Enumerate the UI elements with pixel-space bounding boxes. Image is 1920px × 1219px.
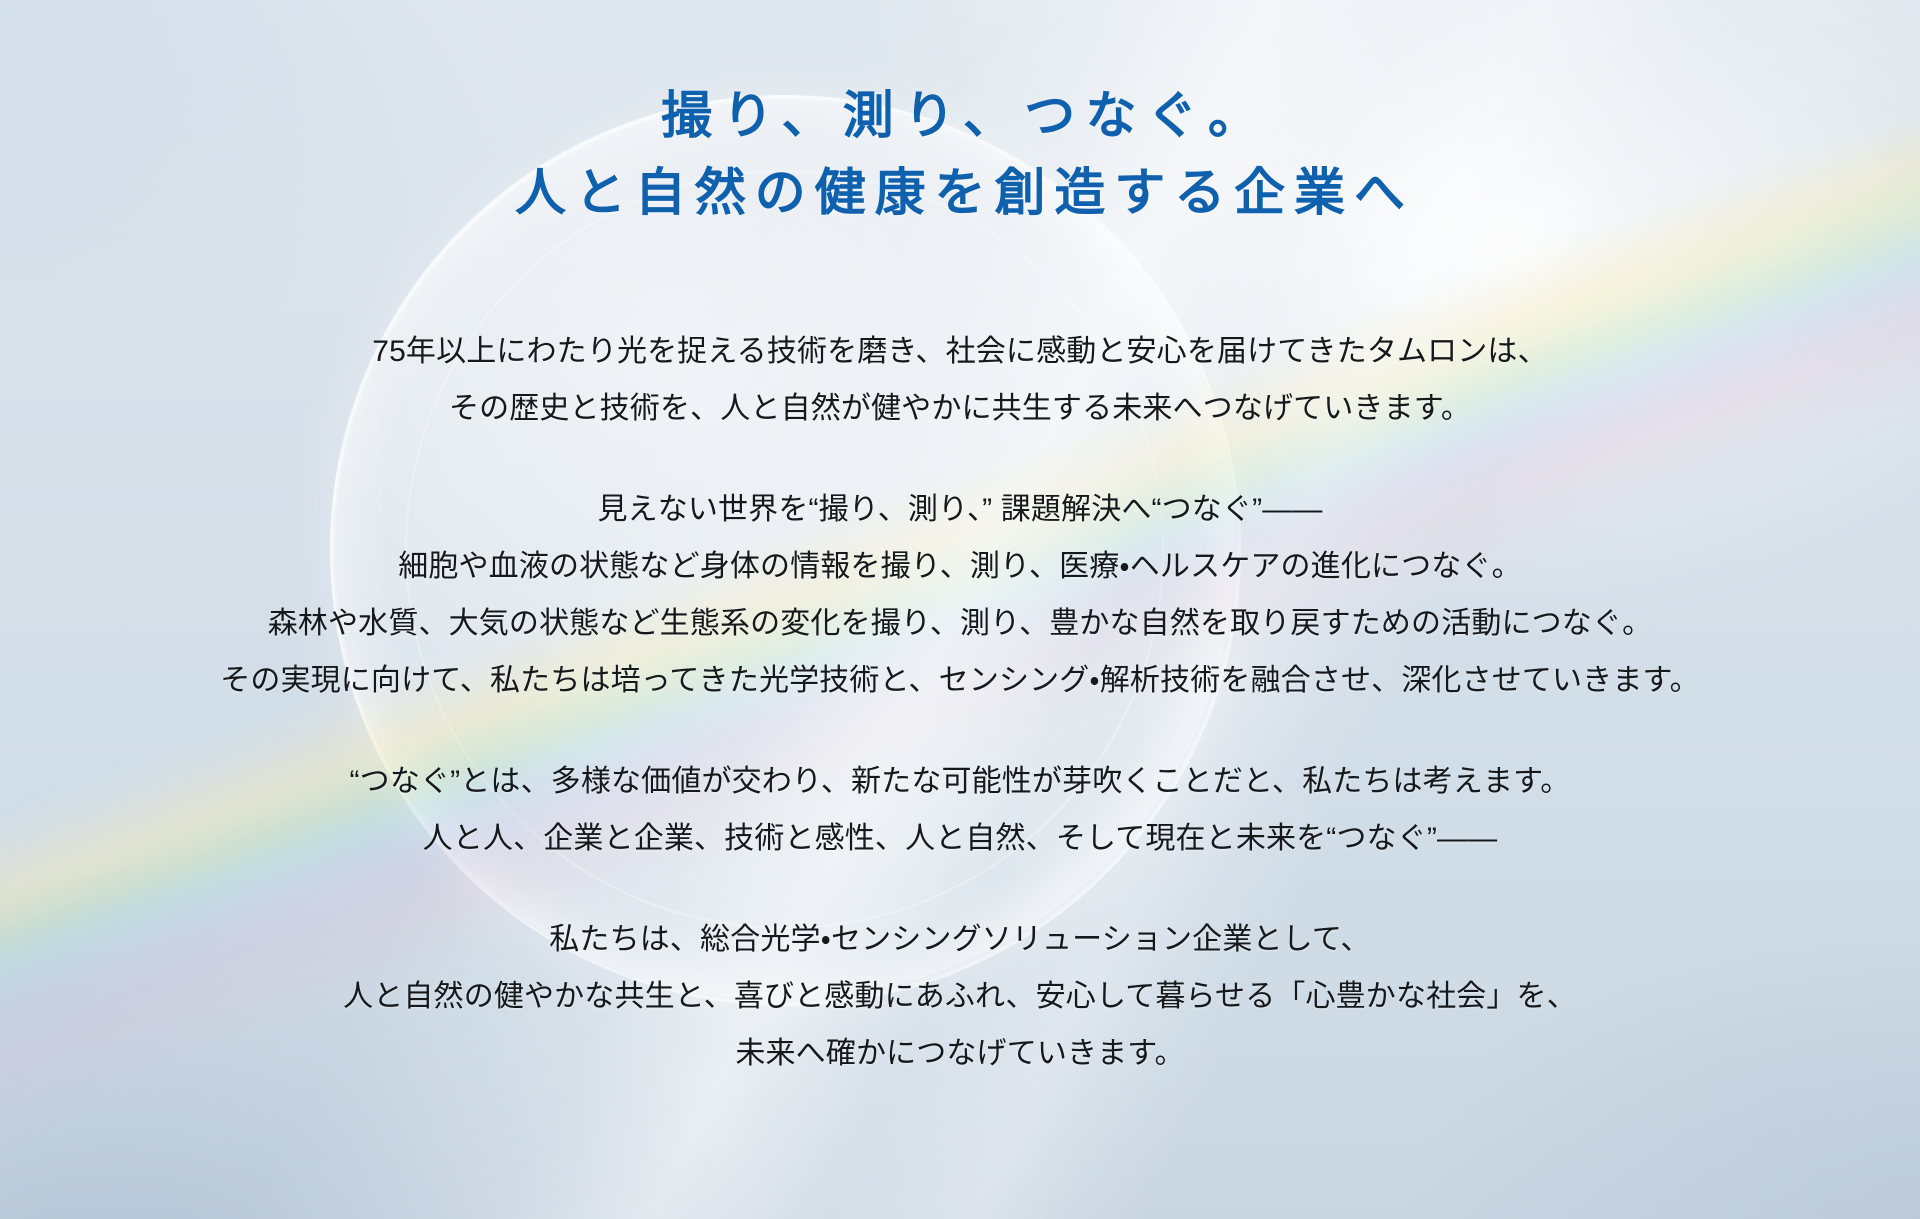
paragraph-line: 私たちは、総合光学・センシングソリューション企業として、 [220,911,1700,968]
paragraph-line: その歴史と技術を、人と自然が健やかに共生する未来へつなげていきます。 [220,380,1700,437]
paragraph-intro: 75年以上にわたり光を捉える技術を磨き、社会に感動と安心を届けてきたタムロンは、… [220,323,1700,437]
paragraph-line: 75年以上にわたり光を捉える技術を磨き、社会に感動と安心を届けてきたタムロンは、 [220,323,1700,380]
paragraph-vision: 見えない世界を“撮り、測り、” 課題解決へ“つなぐ”—— 細胞や血液の状態など身… [220,481,1700,709]
paragraph-line: 細胞や血液の状態など身体の情報を撮り、測り、医療・ヘルスケアの進化につなぐ。 [220,538,1700,595]
paragraph-line: 森林や水質、大気の状態など生態系の変化を撮り、測り、豊かな自然を取り戻すための活… [220,595,1700,652]
paragraph-line: 人と人、企業と企業、技術と感性、人と自然、そして現在と未来を“つなぐ”—— [220,810,1700,867]
paragraph-line: 未来へ確かにつなげていきます。 [220,1025,1700,1082]
body-copy: 75年以上にわたり光を捉える技術を磨き、社会に感動と安心を届けてきたタムロンは、… [220,323,1700,1082]
paragraph-line: 見えない世界を“撮り、測り、” 課題解決へ“つなぐ”—— [220,481,1700,538]
headline-line-2: 人と自然の健康を創造する企業へ [506,155,1414,232]
paragraph-commitment: 私たちは、総合光学・センシングソリューション企業として、 人と自然の健やかな共生… [220,911,1700,1082]
slide-canvas: 撮り、測り、つなぐ。 人と自然の健康を創造する企業へ 75年以上にわたり光を捉え… [0,0,1920,1219]
paragraph-line: 人と自然の健やかな共生と、喜びと感動にあふれ、安心して暮らせる「心豊かな社会」を… [220,968,1700,1025]
page-title: 撮り、測り、つなぐ。 人と自然の健康を創造する企業へ [506,78,1414,231]
paragraph-meaning-of-tsunagu: “つなぐ”とは、多様な価値が交わり、新たな可能性が芽吹くことだと、私たちは考えま… [220,753,1700,867]
headline-line-1: 撮り、測り、つなぐ。 [506,78,1414,155]
paragraph-line: “つなぐ”とは、多様な価値が交わり、新たな可能性が芽吹くことだと、私たちは考えま… [220,753,1700,810]
paragraph-line: その実現に向けて、私たちは培ってきた光学技術と、センシング・解析技術を融合させ、… [220,652,1700,709]
slide-content: 撮り、測り、つなぐ。 人と自然の健康を創造する企業へ 75年以上にわたり光を捉え… [0,0,1920,1219]
